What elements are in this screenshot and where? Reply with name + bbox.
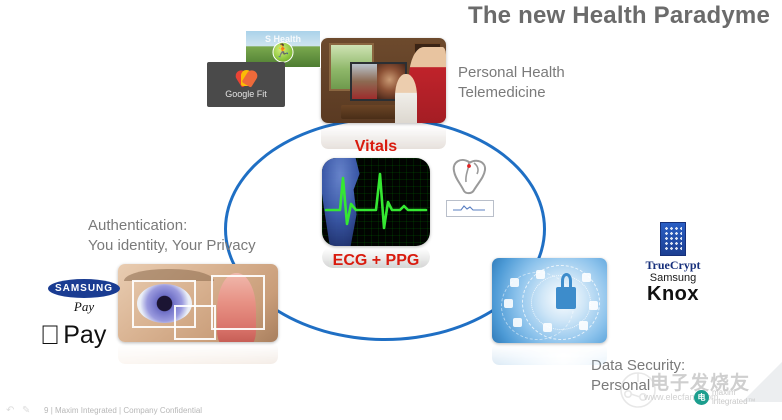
google-fit-heart-icon: [237, 70, 256, 87]
apple-icon: : [40, 322, 60, 349]
child-figure: [395, 74, 418, 123]
footer-text: 9 | Maxim Integrated | Company Confident…: [44, 406, 202, 415]
footer-bar: ↶ ✎ 9 | Maxim Integrated | Company Confi…: [0, 398, 782, 420]
corner-fold-decoration: [742, 362, 782, 402]
tech-icon-dot: [536, 270, 545, 279]
truecrypt-label: TrueCrypt: [638, 258, 708, 273]
truecrypt-icon: [660, 222, 686, 256]
ecg-waveform-icon: [322, 158, 430, 246]
page-title: The new Health Paradyme: [468, 2, 770, 30]
knox-wordmark: Knox: [628, 284, 718, 305]
samsung-pay-logo: SAMSUNG Pay: [45, 279, 123, 315]
tech-icon-dot: [582, 273, 591, 282]
video-tile-doctor: [352, 64, 378, 99]
heart-anatomy-icon: [448, 158, 490, 196]
telemedicine-callout: Personal Health Telemedicine: [458, 63, 565, 104]
google-fit-logo: Google Fit: [207, 62, 285, 107]
padlock-icon: [556, 287, 576, 309]
tech-icon-dot: [513, 318, 522, 327]
tech-icon-dot: [579, 321, 588, 330]
reflection-security-background: [492, 343, 607, 365]
data-security-callout-line2: Personal: [591, 376, 685, 396]
scan-frame-middle: [174, 305, 216, 341]
ecg-ppg-label: ECG + PPG: [312, 252, 440, 270]
tech-icon-dot: [543, 323, 552, 332]
footer-separator-1: |: [51, 406, 53, 415]
heart-trace-waveform-icon: [447, 201, 491, 214]
data-security-callout-line1: Data Security:: [591, 356, 685, 376]
biometric-photo-reflection: [118, 342, 278, 364]
data-security-callout: Data Security: Personal: [591, 356, 685, 397]
slide-canvas: The new Health Paradyme Vitals ECG + PPG: [0, 0, 782, 420]
telemedicine-callout-line2: Telemedicine: [458, 83, 565, 103]
samsung-knox-logo: Samsung Knox: [628, 272, 718, 305]
authentication-callout: Authentication: You identity, Your Priva…: [88, 216, 256, 257]
tech-icon-dot: [510, 278, 519, 287]
truecrypt-logo: TrueCrypt: [638, 222, 708, 273]
tech-icon-dot: [504, 299, 513, 308]
telemedicine-callout-line1: Personal Health: [458, 63, 565, 83]
heart-trace-box: [446, 200, 494, 217]
authentication-callout-line2: You identity, Your Privacy: [88, 236, 256, 256]
back-arrow-icon[interactable]: ↶: [6, 405, 14, 416]
samsung-pay-word: Pay: [45, 299, 123, 315]
data-security-photo: [492, 258, 607, 343]
apple-pay-word: Pay: [63, 323, 106, 348]
footer-page-number: 9: [44, 406, 48, 415]
footer-separator-2: |: [119, 406, 121, 415]
runner-icon: 🏃: [275, 43, 291, 56]
biometric-photo: [118, 264, 278, 342]
telemedicine-scene: [321, 38, 446, 123]
tech-icon-dot: [589, 301, 598, 310]
reflection-skin: [118, 342, 278, 364]
footer-confidentiality: Company Confidential: [123, 406, 202, 415]
apple-pay-logo:  Pay: [40, 322, 106, 349]
authentication-callout-line1: Authentication:: [88, 216, 256, 236]
telemedicine-photo: [321, 38, 446, 123]
footer-company: Maxim Integrated: [55, 406, 117, 415]
google-fit-label: Google Fit: [225, 89, 267, 99]
data-security-photo-reflection: [492, 343, 607, 365]
ecg-tile: [322, 158, 430, 246]
pen-icon[interactable]: ✎: [22, 405, 30, 416]
scan-frame-finger: [211, 275, 265, 330]
vitals-label: Vitals: [320, 138, 432, 156]
samsung-wordmark: SAMSUNG: [48, 279, 120, 298]
